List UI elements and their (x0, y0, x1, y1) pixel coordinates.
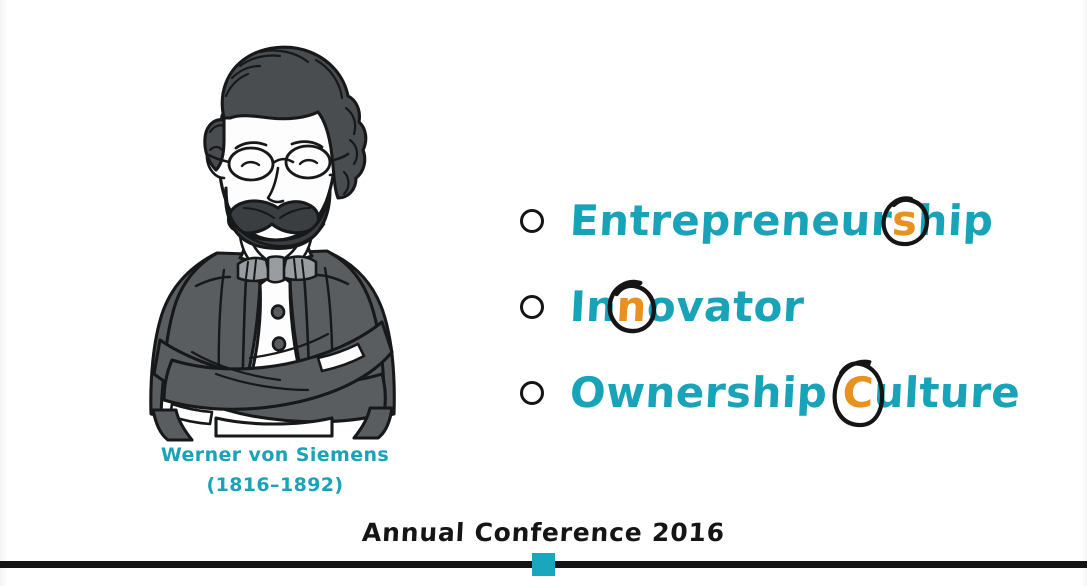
portrait-caption-name: Werner von Siemens (120, 440, 430, 470)
bullet-2-text-before: In (569, 282, 618, 331)
bullet-text-ownership-culture: Ownership C ulture (569, 372, 1022, 414)
bullet-3-text-before: Ownership (569, 368, 844, 417)
footer-progress-marker (532, 553, 555, 576)
portrait-caption-years: (1816–1892) (120, 470, 430, 500)
bullet-1-text-before: Entrepreneur (569, 196, 894, 245)
bullet-3-highlight-char: C (841, 368, 875, 417)
werner-von-siemens-icon (120, 22, 430, 442)
bullet-list: Entrepreneurs hip Inn ovator Ownership C (520, 178, 1060, 436)
bullet-2-highlight-wrapper: n (615, 286, 648, 328)
footer-title: Annual Conference 2016 (0, 518, 1087, 547)
hollow-circle-icon (520, 209, 544, 233)
bullet-1-text-after: hip (916, 196, 994, 245)
bullet-2-text-after: ovator (646, 282, 806, 331)
bullet-2-highlight-char: n (615, 282, 648, 331)
slide-right-edge-shadow (1081, 0, 1087, 586)
bullet-item-innovator[interactable]: Inn ovator (520, 264, 1060, 350)
portrait-illustration (120, 22, 430, 442)
bullet-text-entrepreneurship: Entrepreneurs hip (569, 200, 995, 242)
bullet-1-highlight-char: s (891, 196, 919, 245)
bullet-item-ownership-culture[interactable]: Ownership C ulture (520, 350, 1060, 436)
bullet-3-highlight-wrapper: C (841, 372, 875, 414)
presentation-slide: Werner von Siemens (1816–1892) Entrepren… (0, 0, 1087, 586)
bullet-1-highlight-wrapper: s (891, 200, 919, 242)
slide-left-edge-shadow (0, 0, 7, 586)
bullet-text-innovator: Inn ovator (569, 286, 805, 328)
hollow-circle-icon (520, 295, 544, 319)
bullet-3-text-after: ulture (873, 368, 1022, 417)
hollow-circle-icon (520, 381, 544, 405)
portrait-caption: Werner von Siemens (1816–1892) (120, 440, 430, 500)
bullet-item-entrepreneurship[interactable]: Entrepreneurs hip (520, 178, 1060, 264)
